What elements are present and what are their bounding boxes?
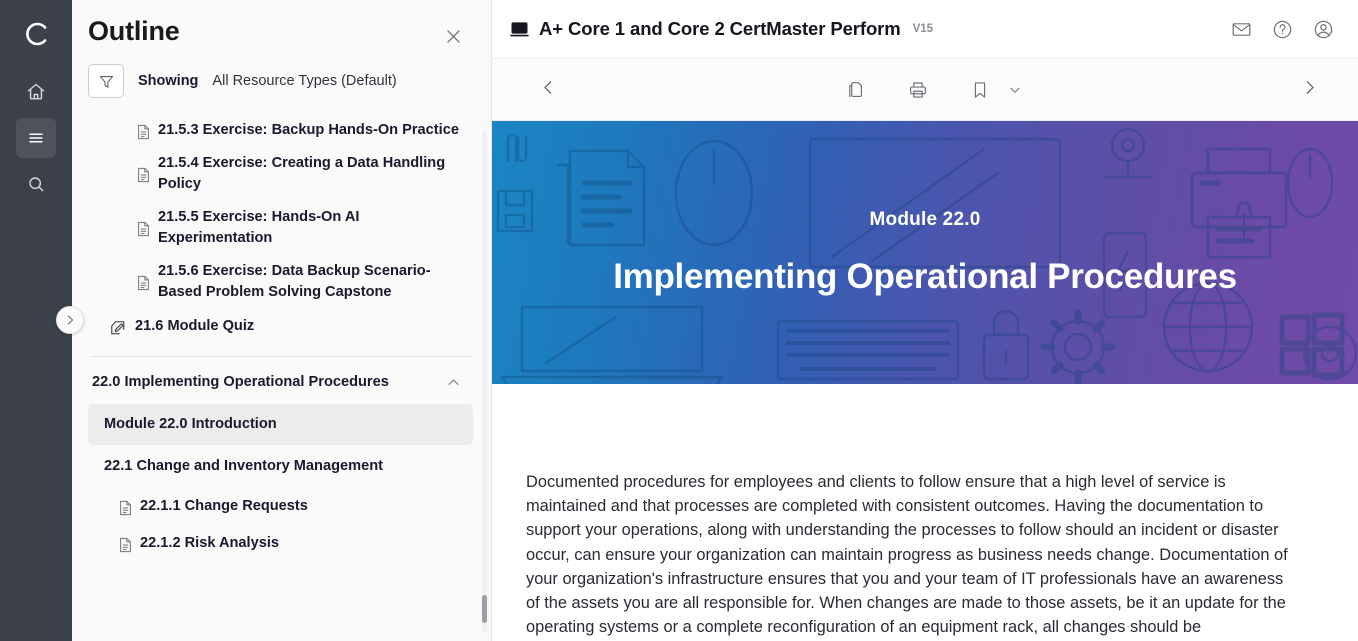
outline-item-21-5-6[interactable]: 21.5.6 Exercise: Data Backup Scenario-Ba…: [88, 255, 473, 309]
outline-filter-row: Showing All Resource Types (Default): [72, 50, 491, 114]
outline-header: Outline: [72, 0, 491, 50]
rail-icon-group: [16, 72, 56, 204]
next-page-button[interactable]: [1301, 79, 1318, 101]
main-content: A+ Core 1 and Core 2 CertMaster Perform …: [492, 0, 1358, 641]
outline-item-22-1-2[interactable]: 22.1.2 Risk Analysis: [88, 525, 473, 562]
document-icon: [136, 219, 151, 237]
banner-title: Implementing Operational Procedures: [613, 257, 1237, 297]
outline-item-label: 22.1.2 Risk Analysis: [140, 533, 279, 554]
page-title: A+ Core 1 and Core 2 CertMaster Perform: [539, 18, 901, 40]
outline-item-21-6-quiz[interactable]: 21.6 Module Quiz: [88, 309, 473, 344]
account-icon[interactable]: [1313, 19, 1334, 40]
filter-icon[interactable]: [88, 64, 124, 98]
chevron-up-icon[interactable]: [446, 375, 461, 390]
quiz-edit-icon: [110, 318, 126, 336]
document-icon: [136, 273, 151, 291]
left-rail: [0, 0, 72, 641]
document-body: Module 22.0 Implementing Operational Pro…: [492, 121, 1358, 641]
outline-item-label: 21.5.5 Exercise: Hands-On AI Experimenta…: [158, 207, 467, 249]
filter-showing-label: Showing: [138, 73, 198, 89]
rail-item-search[interactable]: [16, 164, 56, 204]
document-icon: [118, 535, 133, 553]
help-icon[interactable]: [1272, 19, 1293, 40]
rail-item-home[interactable]: [16, 72, 56, 112]
outline-item-label: 21.5.6 Exercise: Data Backup Scenario-Ba…: [158, 261, 467, 303]
outline-item-module-22-0-introduction[interactable]: Module 22.0 Introduction: [88, 404, 473, 445]
document-icon: [118, 498, 133, 516]
rail-expand-button[interactable]: [56, 306, 84, 334]
outline-tree: 21.5.3 Exercise: Backup Hands-On Practic…: [72, 114, 491, 641]
chevron-down-icon[interactable]: [1008, 83, 1022, 97]
outline-item-22-1[interactable]: 22.1 Change and Inventory Management: [88, 447, 473, 486]
course-book-icon: [510, 20, 529, 39]
filter-value[interactable]: All Resource Types (Default): [212, 73, 396, 89]
outline-item-21-5-4[interactable]: 21.5.4 Exercise: Creating a Data Handlin…: [88, 147, 473, 201]
outline-item-21-5-5[interactable]: 21.5.5 Exercise: Hands-On AI Experimenta…: [88, 201, 473, 255]
version-badge: V15: [913, 23, 933, 35]
body-paragraph: Documented procedures for employees and …: [492, 384, 1316, 641]
document-icon: [136, 122, 151, 140]
banner-tech-pattern-icon: [492, 121, 1358, 384]
outline-section-22-0[interactable]: 22.0 Implementing Operational Procedures: [88, 363, 473, 402]
document-icon: [136, 165, 151, 183]
app-root: Outline Showing All Resource Types (Defa…: [0, 0, 1358, 641]
document-toolbar: [492, 59, 1358, 121]
outline-scrollbar[interactable]: [482, 130, 487, 633]
outline-item-label: 21.5.3 Exercise: Backup Hands-On Practic…: [158, 120, 459, 141]
module-banner: Module 22.0 Implementing Operational Pro…: [492, 121, 1358, 384]
outline-item-label: 22.1 Change and Inventory Management: [104, 458, 383, 474]
course-header: A+ Core 1 and Core 2 CertMaster Perform …: [492, 0, 1358, 59]
outline-title: Outline: [88, 16, 180, 47]
course-title-group: A+ Core 1 and Core 2 CertMaster Perform …: [510, 18, 933, 40]
outline-section-label: 22.0 Implementing Operational Procedures: [92, 372, 389, 393]
prev-page-button[interactable]: [540, 79, 557, 101]
outline-panel: Outline Showing All Resource Types (Defa…: [72, 0, 492, 641]
rail-item-outline[interactable]: [16, 118, 56, 158]
outline-item-label: 21.6 Module Quiz: [135, 316, 254, 337]
outline-scrollbar-thumb[interactable]: [482, 595, 487, 623]
comptia-logo-icon[interactable]: [16, 14, 56, 54]
outline-item-label: 21.5.4 Exercise: Creating a Data Handlin…: [158, 153, 467, 195]
header-icon-group: [1231, 19, 1334, 40]
outline-divider: [90, 356, 471, 357]
banner-subtitle: Module 22.0: [870, 209, 981, 231]
toolbar-actions: [828, 80, 1022, 100]
copy-icon[interactable]: [846, 80, 866, 100]
bookmark-icon[interactable]: [970, 80, 990, 100]
outline-item-21-5-3[interactable]: 21.5.3 Exercise: Backup Hands-On Practic…: [88, 114, 473, 147]
outline-item-22-1-1[interactable]: 22.1.1 Change Requests: [88, 488, 473, 525]
close-icon[interactable]: [439, 22, 467, 50]
print-icon[interactable]: [908, 80, 928, 100]
outline-item-label: 22.1.1 Change Requests: [140, 496, 308, 517]
outline-item-label: Module 22.0 Introduction: [104, 416, 277, 432]
mail-icon[interactable]: [1231, 19, 1252, 40]
